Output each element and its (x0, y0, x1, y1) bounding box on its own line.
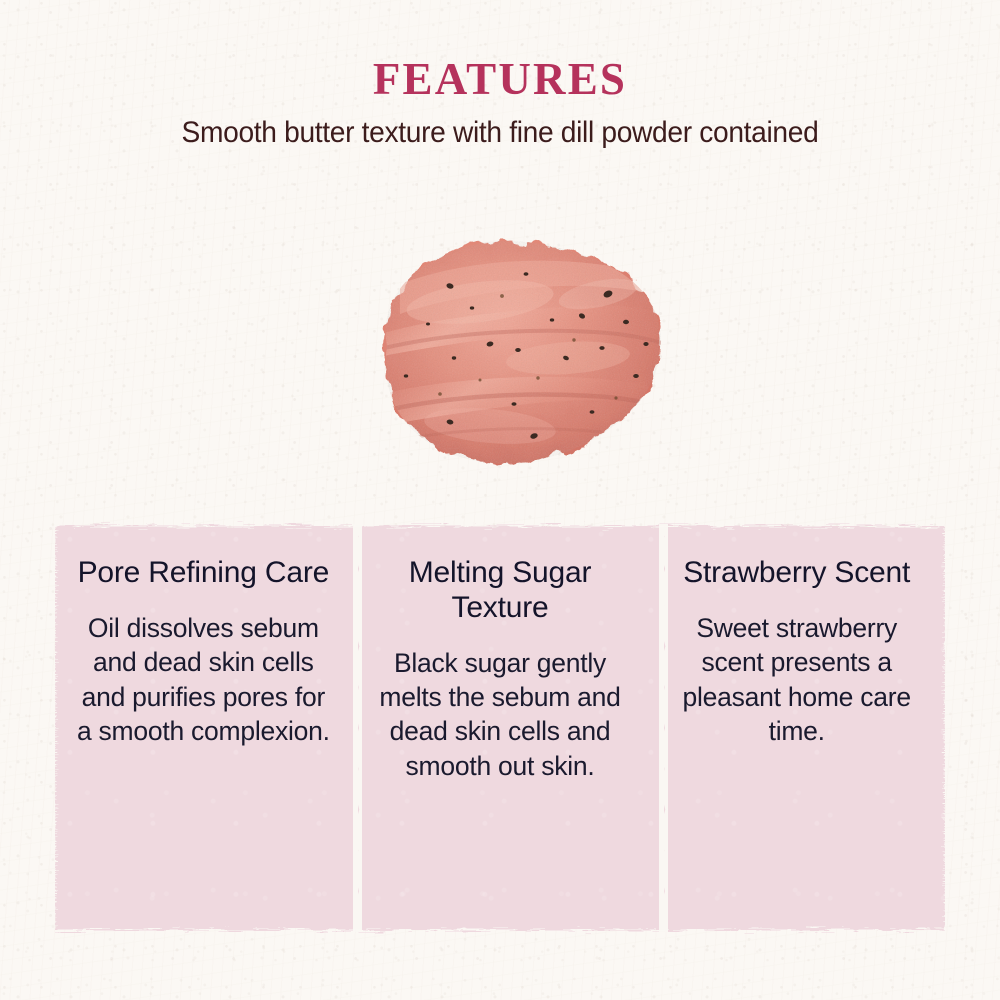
feature-title: Pore Refining Care (71, 556, 336, 591)
sugar-scrub-icon (330, 198, 710, 494)
feature-column-melting-sugar-texture: Melting Sugar Texture Black sugar gently… (352, 518, 649, 938)
features-page: FEATURES Smooth butter texture with fine… (0, 0, 1000, 1000)
header: FEATURES Smooth butter texture with fine… (0, 0, 1000, 149)
feature-body: Oil dissolves sebum and dead skin cells … (71, 591, 336, 749)
feature-title: Strawberry Scent (664, 556, 929, 591)
feature-body: Black sugar gently melts the sebum and d… (368, 626, 633, 784)
feature-title: Melting Sugar Texture (368, 556, 633, 626)
feature-body: Sweet strawberry scent presents a pleasa… (664, 591, 929, 749)
feature-column-pore-refining-care: Pore Refining Care Oil dissolves sebum a… (55, 518, 352, 938)
sugar-scrub-swatch-image (330, 198, 710, 494)
page-title: FEATURES (0, 0, 1000, 104)
page-subtitle: Smooth butter texture with fine dill pow… (23, 104, 978, 149)
feature-column-strawberry-scent: Strawberry Scent Sweet strawberry scent … (648, 518, 945, 938)
feature-columns: Pore Refining Care Oil dissolves sebum a… (55, 518, 945, 938)
